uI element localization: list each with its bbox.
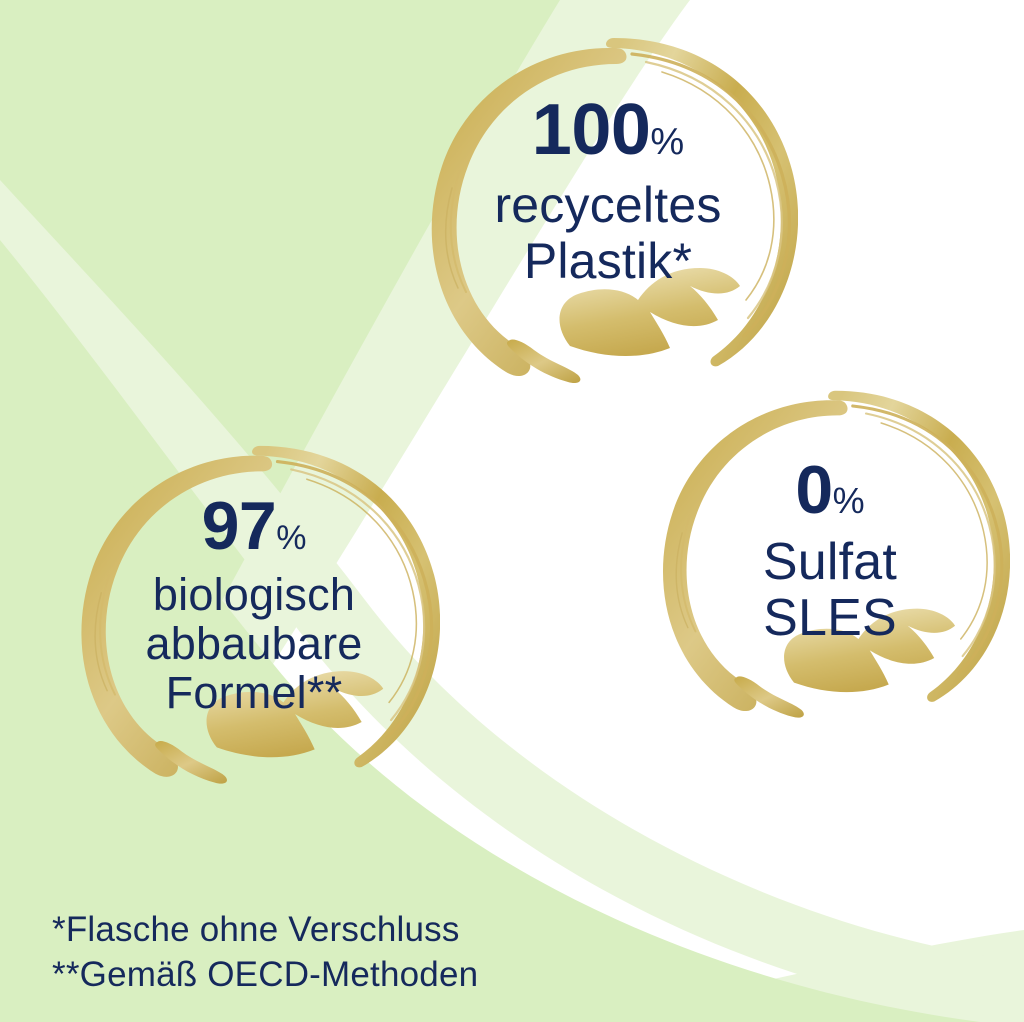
badge-biodegradable-unit: %	[276, 519, 306, 557]
badge-biodegradable-value: 97	[202, 488, 277, 564]
badge-recycled-value: 100	[532, 90, 651, 170]
badge-biodegradable-label-3: Formel**	[68, 670, 440, 715]
footnote-single-asterisk: *Flasche ohne Verschluss	[52, 908, 478, 953]
badge-biodegradable-stat: 97%	[68, 492, 440, 560]
badge-biodegradable-label-2: abbaubare	[68, 621, 440, 666]
badge-recycled-stat: 100%	[418, 94, 798, 166]
badge-sulfate-unit: %	[833, 480, 865, 521]
footnotes: *Flasche ohne Verschluss **Gemäß OECD-Me…	[52, 908, 478, 998]
footnote-double-asterisk: **Gemäß OECD-Methoden	[52, 953, 478, 998]
badge-sulfate-label-1: Sulfat	[650, 536, 1010, 588]
badge-recycled-text: 100% recyceltes Plastik*	[418, 94, 798, 286]
badge-sulfate-text: 0% Sulfat SLES	[650, 456, 1010, 644]
badge-recycled-label-1: recyceltes	[418, 180, 798, 230]
badge-sulfate-stat: 0%	[650, 456, 1010, 524]
badge-recycled-label-2: Plastik*	[418, 236, 798, 286]
badge-sulfate-value: 0	[795, 452, 832, 528]
badge-recycled-plastic: 100% recyceltes Plastik*	[418, 38, 798, 410]
promo-graphic: 100% recyceltes Plastik*	[0, 0, 1024, 1022]
badge-sulfate-label-2: SLES	[650, 592, 1010, 644]
badge-biodegradable-label-1: biologisch	[68, 572, 440, 617]
badge-biodegradable-text: 97% biologisch abbaubare Formel**	[68, 492, 440, 715]
badge-biodegradable-formula: 97% biologisch abbaubare Formel**	[68, 444, 440, 812]
badge-sulfate-free: 0% Sulfat SLES	[650, 388, 1010, 746]
badge-recycled-unit: %	[650, 121, 684, 163]
